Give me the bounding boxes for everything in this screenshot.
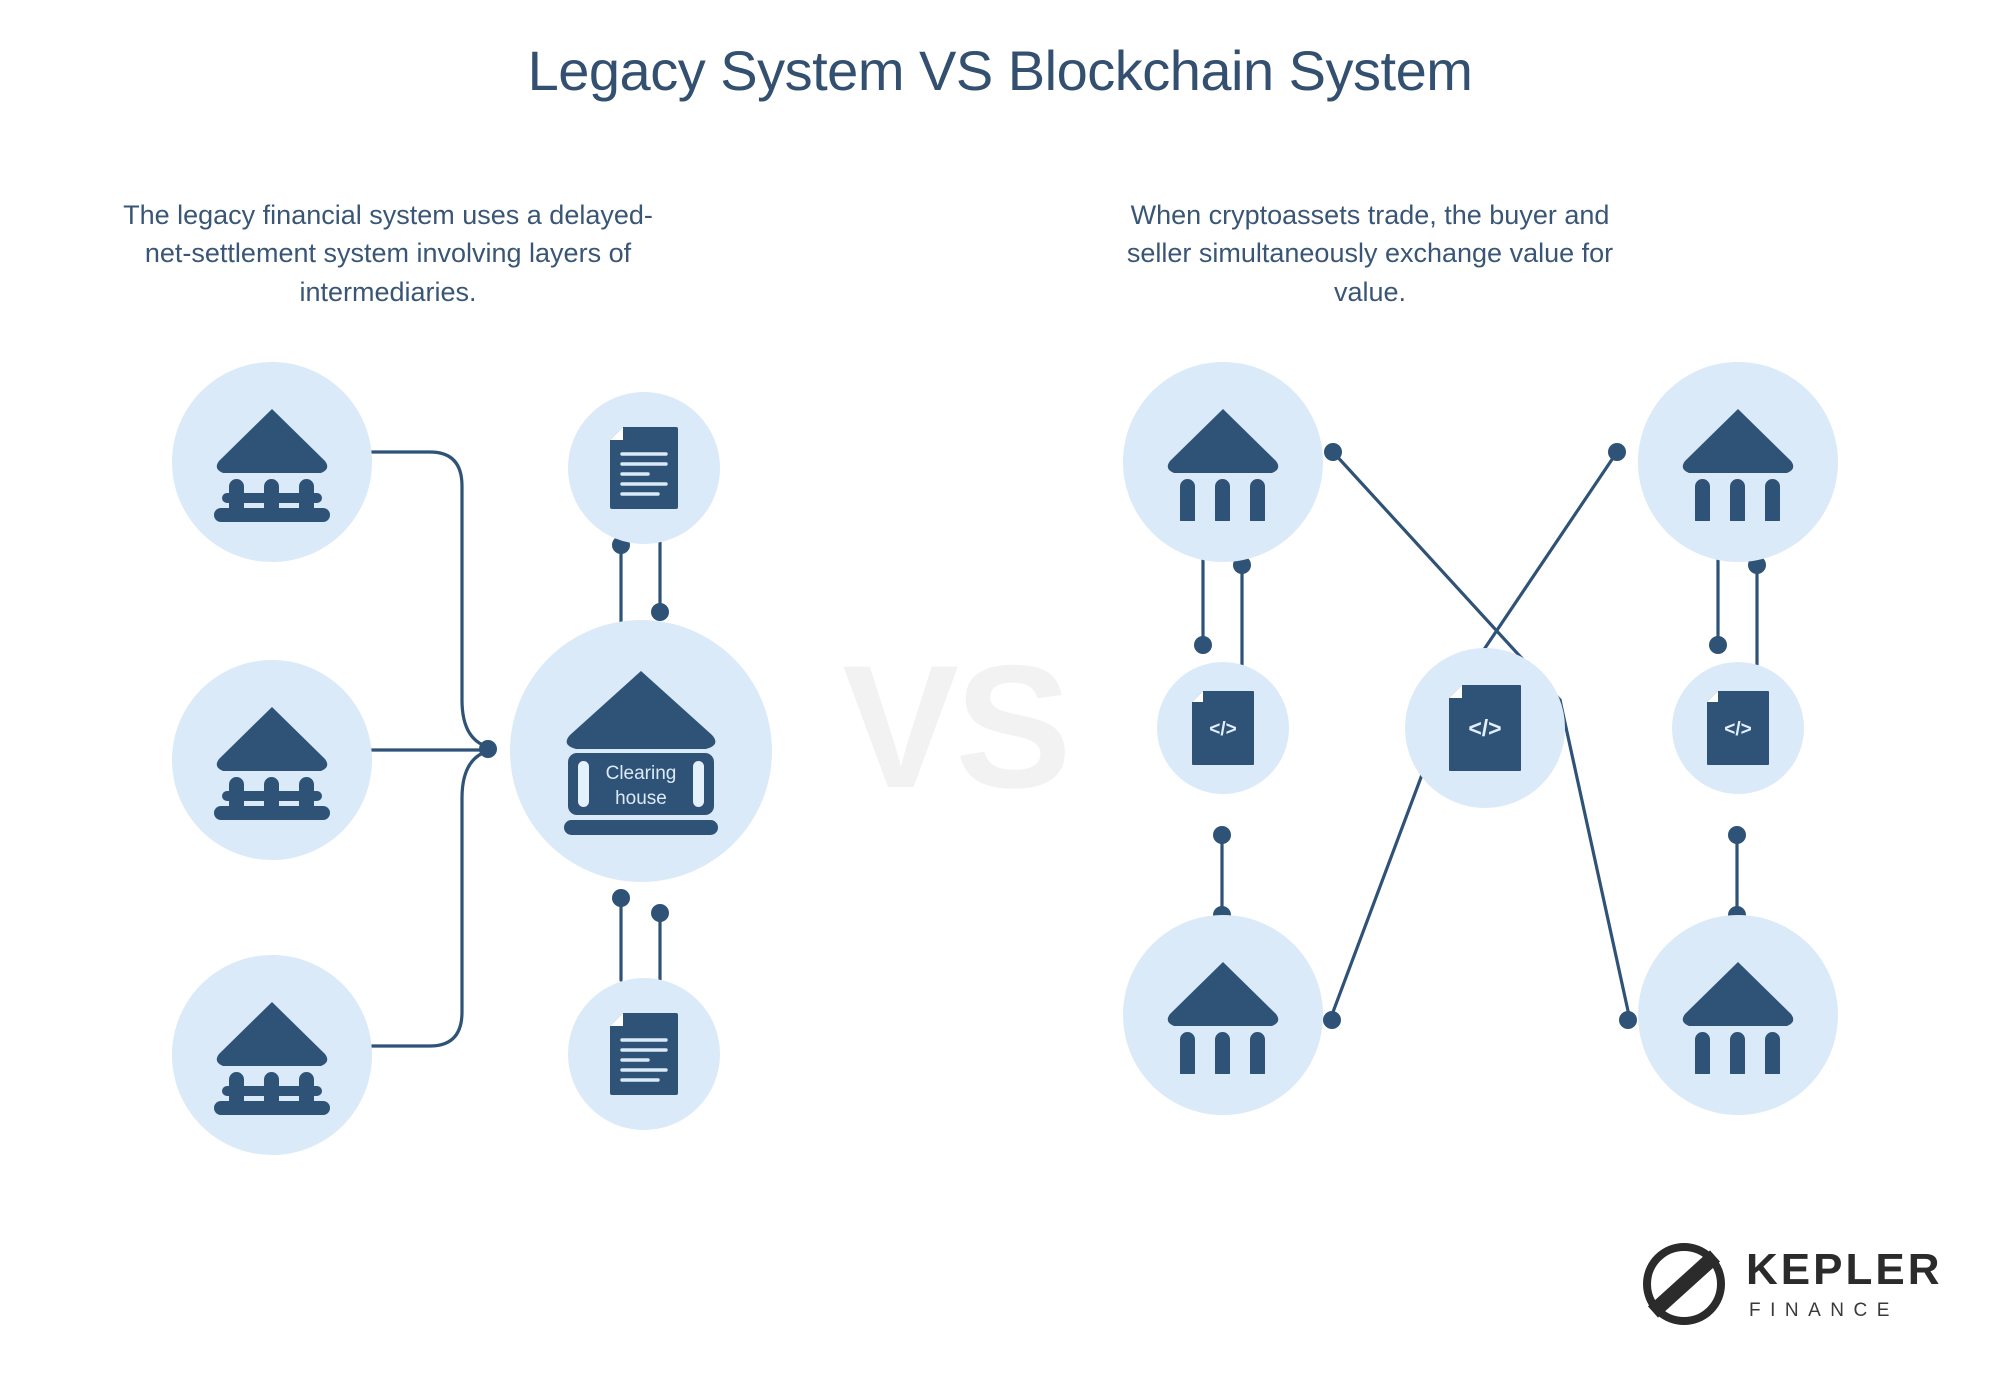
- bank-icon: [207, 701, 337, 819]
- logo-brand-name: KEPLER: [1746, 1248, 1942, 1292]
- code-document-label: </>: [1468, 715, 1501, 741]
- node-bank-top-left-panel[interactable]: [172, 362, 372, 562]
- infographic-page: Legacy System VS Blockchain System VS Th…: [0, 0, 2000, 1380]
- bank-icon: [1673, 403, 1803, 521]
- hub-junction-dot: [479, 740, 497, 758]
- code-document-label: </>: [1724, 719, 1751, 740]
- document-icon: [610, 427, 678, 509]
- code-document-icon: </>: [1449, 685, 1521, 771]
- clearing-house-label-line1: Clearing: [606, 763, 677, 784]
- connector-left-code-to-bottom-bank-dot: [1213, 826, 1231, 844]
- connector-diagonal-topright-dot: [1608, 443, 1626, 461]
- logo-sub-name: FINANCE: [1749, 1301, 1942, 1320]
- circle-slash-icon: [1640, 1240, 1728, 1328]
- connector-diagonal-bottomleft-dot: [1323, 1011, 1341, 1029]
- bank-icon: [207, 403, 337, 521]
- brand-logo: KEPLER FINANCE: [1640, 1240, 1942, 1328]
- connector-doc-bottom-up-dot: [651, 904, 669, 922]
- bank-icon: [1158, 956, 1288, 1074]
- connector-diagonal-bottomright-dot: [1619, 1011, 1637, 1029]
- node-code-document-center[interactable]: </>: [1405, 648, 1565, 808]
- bank-icon: [1673, 956, 1803, 1074]
- bank-icon: [207, 996, 337, 1114]
- node-document-top-left-panel[interactable]: [568, 392, 720, 544]
- node-clearing-house[interactable]: Clearing house: [510, 620, 772, 882]
- node-bank-bottom-left-right-panel[interactable]: [1123, 915, 1323, 1115]
- connector-diagonal-center-to-bottomright: [1560, 700, 1630, 1020]
- node-bank-top-right-right-panel[interactable]: [1638, 362, 1838, 562]
- node-bank-top-left-right-panel[interactable]: [1123, 362, 1323, 562]
- node-code-document-left[interactable]: </>: [1157, 662, 1289, 794]
- connector-bank-bottom-to-hub: [368, 750, 492, 1046]
- connector-doc-top-up-dot: [651, 603, 669, 621]
- connector-bank-top-to-hub: [368, 452, 492, 748]
- node-code-document-right[interactable]: </>: [1672, 662, 1804, 794]
- node-bank-bottom-right-right-panel[interactable]: [1638, 915, 1838, 1115]
- code-document-icon: </>: [1192, 691, 1254, 765]
- connector-right-code-to-bottom-bank-dot: [1728, 826, 1746, 844]
- clearing-house-icon: Clearing house: [556, 667, 726, 835]
- document-icon: [610, 1013, 678, 1095]
- connector-doc-bottom-down-dot: [612, 889, 630, 907]
- node-document-bottom-left-panel[interactable]: [568, 978, 720, 1130]
- node-bank-middle-left-panel[interactable]: [172, 660, 372, 860]
- connector-right-bank-to-code-dot: [1709, 636, 1727, 654]
- connector-left-bank-to-code-dot: [1194, 636, 1212, 654]
- connector-diagonal-topleft-dot: [1324, 443, 1342, 461]
- code-document-icon: </>: [1707, 691, 1769, 765]
- node-bank-bottom-left-panel[interactable]: [172, 955, 372, 1155]
- code-document-label: </>: [1209, 719, 1236, 740]
- clearing-house-label-line2: house: [615, 788, 667, 809]
- bank-icon: [1158, 403, 1288, 521]
